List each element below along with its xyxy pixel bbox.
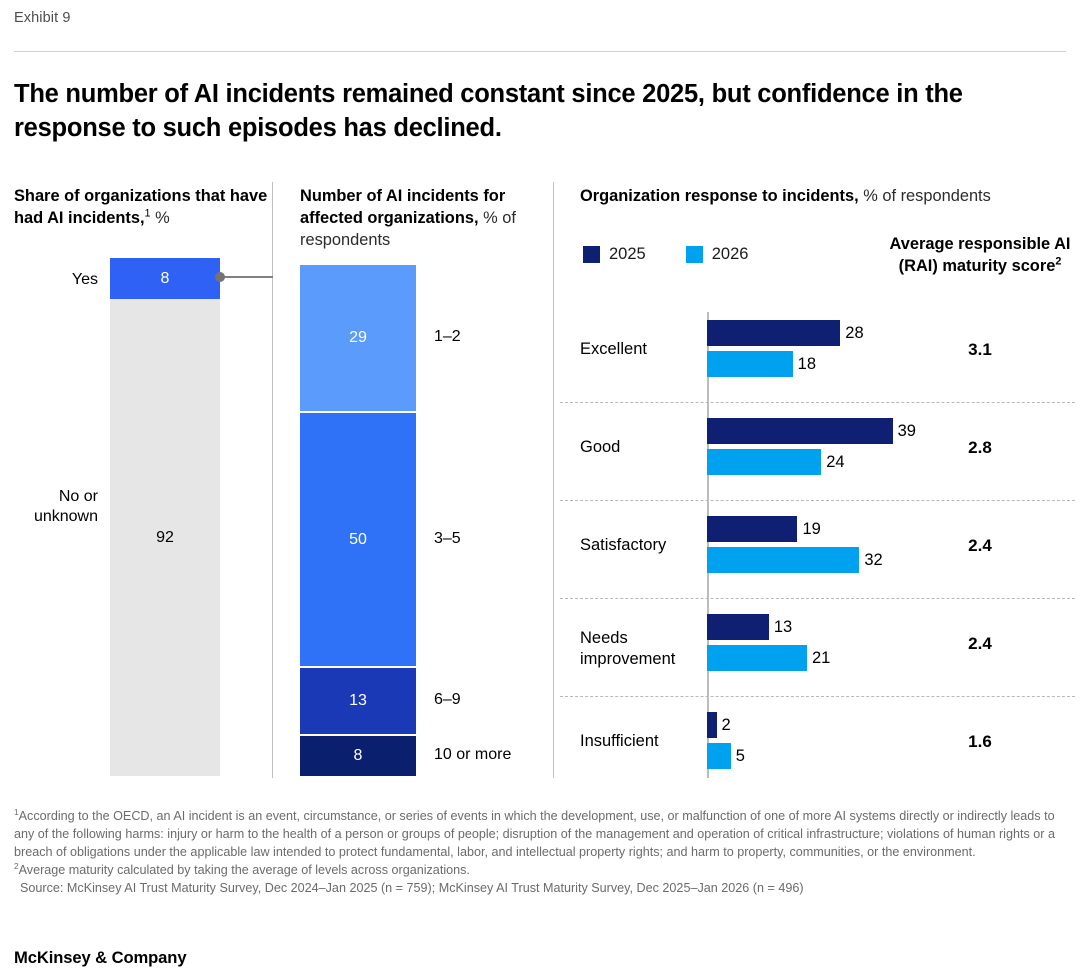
left-segment-yes[interactable]: 8 [110, 258, 220, 299]
bar-value-2025: 13 [774, 614, 792, 640]
middle-segment-value: 8 [354, 747, 363, 765]
legend-swatch-2026 [686, 246, 703, 263]
row-label-satisfactory: Satisfactory [580, 535, 710, 556]
bar-value-2025: 28 [845, 320, 863, 346]
row-separator [560, 696, 1075, 697]
bar-2025[interactable] [707, 712, 717, 738]
footnotes: 1According to the OECD, an AI incident i… [14, 808, 1070, 897]
bar-2026[interactable] [707, 351, 793, 377]
connector-line [220, 276, 273, 278]
row-separator [560, 402, 1075, 403]
legend-label-2026[interactable]: 2026 [712, 245, 749, 264]
bar-2026[interactable] [707, 547, 859, 573]
table-row[interactable]: Needs improvement13212.4 [560, 606, 1080, 704]
middle-segment-value: 50 [349, 531, 367, 549]
left-panel-heading: Share of organizations that have had AI … [14, 186, 269, 230]
footnote-1: 1According to the OECD, an AI incident i… [14, 808, 1070, 862]
middle-segment-value: 13 [349, 692, 367, 710]
bar-2026[interactable] [707, 743, 731, 769]
bar-2026[interactable] [707, 449, 821, 475]
rai-score-value: 3.1 [880, 340, 1080, 360]
bar-value-2026: 24 [826, 449, 844, 475]
middle-segment-6-9[interactable]: 13 [300, 668, 416, 734]
rai-column-heading: Average responsible AI (RAI) maturity sc… [880, 234, 1080, 278]
middle-stacked-column: 2950138 [300, 265, 416, 776]
row-label-needs-improvement: Needs improvement [580, 628, 710, 670]
page-title: The number of AI incidents remained cons… [14, 78, 1064, 146]
bar-2025[interactable] [707, 516, 797, 542]
panel-divider-left [272, 182, 273, 778]
left-stacked-column: 8 92 [110, 258, 220, 776]
middle-panel-heading-bold: Number of AI incidents for affected orga… [300, 187, 505, 227]
middle-segment-10-or-more[interactable]: 8 [300, 736, 416, 776]
middle-segment-1-2[interactable]: 29 [300, 265, 416, 411]
left-category-label-no-or-unknown: No or unknown [0, 487, 98, 528]
rai-score-value: 1.6 [880, 732, 1080, 752]
left-category-label-yes: Yes [0, 270, 98, 290]
rai-column-heading-footnote-marker: 2 [1055, 256, 1061, 268]
rai-column-heading-text: Average responsible AI (RAI) maturity sc… [890, 235, 1071, 275]
bar-2025[interactable] [707, 320, 840, 346]
middle-segment-3-5[interactable]: 50 [300, 413, 416, 666]
middle-category-label: 6–9 [434, 691, 461, 709]
bar-value-2025: 19 [802, 516, 820, 542]
bar-value-2026: 18 [798, 351, 816, 377]
left-segment-no-or-unknown[interactable]: 92 [110, 299, 220, 776]
table-row[interactable]: Insufficient251.6 [560, 704, 1080, 802]
bar-value-2026: 21 [812, 645, 830, 671]
bar-value-2025: 2 [722, 712, 731, 738]
row-label-good: Good [580, 437, 710, 458]
middle-category-label: 3–5 [434, 530, 461, 548]
right-panel-heading: Organization response to incidents, % of… [580, 186, 1070, 208]
footnote-2-text: Average maturity calculated by taking th… [19, 863, 470, 877]
legend-swatch-2025 [583, 246, 600, 263]
left-segment-no-or-unknown-value: 92 [156, 529, 174, 547]
bar-value-2026: 5 [736, 743, 745, 769]
left-panel-heading-unit: % [151, 209, 170, 227]
row-separator [560, 500, 1075, 501]
table-row[interactable]: Satisfactory19322.4 [560, 508, 1080, 606]
exhibit-page: Exhibit 9 The number of AI incidents rem… [0, 0, 1080, 976]
rai-score-value: 2.4 [880, 536, 1080, 556]
right-panel-heading-unit: % of respondents [859, 187, 991, 205]
left-panel-heading-bold: Share of organizations that have had AI … [14, 187, 267, 227]
brand-mckinsey: McKinsey & Company [14, 948, 186, 968]
header-divider [14, 51, 1066, 52]
bar-2025[interactable] [707, 614, 769, 640]
middle-panel-heading: Number of AI incidents for affected orga… [300, 186, 550, 252]
table-row[interactable]: Excellent28183.1 [560, 312, 1080, 410]
middle-segment-value: 29 [349, 329, 367, 347]
bar-2026[interactable] [707, 645, 807, 671]
legend: 2025 2026 [583, 245, 748, 264]
middle-category-label: 1–2 [434, 328, 461, 346]
middle-category-label: 10 or more [434, 746, 511, 764]
left-segment-yes-value: 8 [161, 270, 170, 288]
footnote-1-text: According to the OECD, an AI incident is… [14, 809, 1055, 859]
row-label-excellent: Excellent [580, 339, 710, 360]
source-line: Source: McKinsey AI Trust Maturity Surve… [20, 880, 1070, 898]
footnote-2: 2Average maturity calculated by taking t… [14, 862, 1070, 880]
panel-divider-right [553, 182, 554, 778]
rai-score-value: 2.4 [880, 634, 1080, 654]
connector-dot [215, 272, 225, 282]
rai-score-value: 2.8 [880, 438, 1080, 458]
row-separator [560, 598, 1075, 599]
right-panel-heading-bold: Organization response to incidents, [580, 187, 859, 205]
legend-label-2025[interactable]: 2025 [609, 245, 646, 264]
exhibit-label: Exhibit 9 [14, 10, 71, 26]
table-row[interactable]: Good39242.8 [560, 410, 1080, 508]
row-label-insufficient: Insufficient [580, 731, 710, 752]
bar-2025[interactable] [707, 418, 893, 444]
